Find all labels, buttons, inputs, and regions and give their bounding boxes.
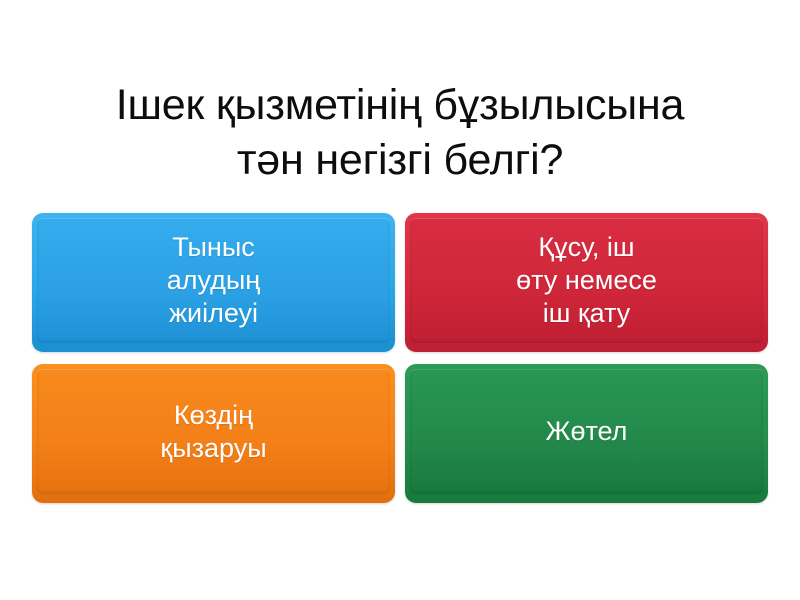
answer-card-green[interactable]: Жөтел (405, 364, 768, 503)
quiz-screen: Ішек қызметінің бұзылысына тән негізгі б… (0, 0, 800, 600)
answer-card-blue-label: Тыныс алудың жиілеуі (167, 231, 260, 330)
answer-card-orange[interactable]: Көздің қызаруы (32, 364, 395, 503)
answer-card-blue-face: Тыныс алудың жиілеуі (37, 218, 390, 343)
question-text: Ішек қызметінің бұзылысына тән негізгі б… (0, 78, 800, 188)
answer-card-red-face: Құсу, іш өту немесе іш қату (410, 218, 763, 343)
question-area: Ішек қызметінің бұзылысына тән негізгі б… (0, 78, 800, 188)
answer-card-green-label: Жөтел (546, 415, 628, 448)
answer-card-red-label: Құсу, іш өту немесе іш қату (516, 231, 657, 330)
answer-card-orange-label: Көздің қызаруы (160, 399, 266, 465)
answer-options-grid: Тыныс алудың жиілеуі Құсу, іш өту немесе… (32, 213, 768, 503)
answer-card-orange-face: Көздің қызаруы (37, 369, 390, 494)
answer-card-red[interactable]: Құсу, іш өту немесе іш қату (405, 213, 768, 352)
answer-card-blue[interactable]: Тыныс алудың жиілеуі (32, 213, 395, 352)
answer-card-green-face: Жөтел (410, 369, 763, 494)
